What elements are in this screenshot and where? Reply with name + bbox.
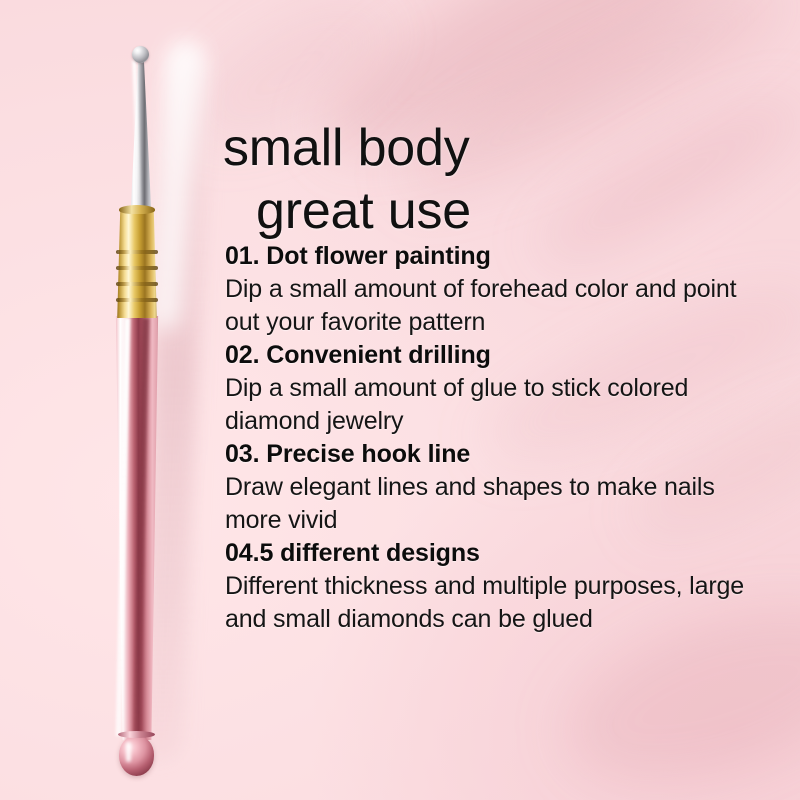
pen-end-cap-highlight [126,742,131,762]
feature-description: Dip a small amount of glue to stick colo… [225,372,770,438]
pen-ferrule-groove [116,266,158,270]
feature-description: Dip a small amount of forehead color and… [225,273,770,339]
headline-line-1: small body [223,119,470,177]
pen-ferrule-groove [116,282,158,286]
feature-list: 01. Dot flower painting Dip a small amou… [225,240,770,636]
feature-title: 03. Precise hook line [225,438,770,471]
pen-end-cap-ball [119,736,154,776]
pen-ferrule-top-cap [119,205,155,214]
feature-title: 04.5 different designs [225,537,770,570]
product-image-dotting-pen [0,0,260,800]
headline-line-2: great use [223,180,763,243]
feature-item: 01. Dot flower painting Dip a small amou… [225,240,770,339]
pen-ball-tip-icon [132,46,149,63]
feature-item: 04.5 different designs Different thickne… [225,537,770,636]
headline: small body great use [223,117,763,243]
pen-end-cap-band [118,731,155,738]
feature-description: Different thickness and multiple purpose… [225,570,770,636]
pen-ferrule-groove [116,298,158,302]
feature-item: 03. Precise hook line Draw elegant lines… [225,438,770,537]
pen-ferrule-groove [116,250,158,254]
feature-title: 02. Convenient drilling [225,339,770,372]
text-column: small body great use 01. Dot flower pain… [223,0,783,800]
feature-description: Draw elegant lines and shapes to make na… [225,471,770,537]
feature-title: 01. Dot flower painting [225,240,770,273]
product-banner: small body great use 01. Dot flower pain… [0,0,800,800]
feature-item: 02. Convenient drilling Dip a small amou… [225,339,770,438]
